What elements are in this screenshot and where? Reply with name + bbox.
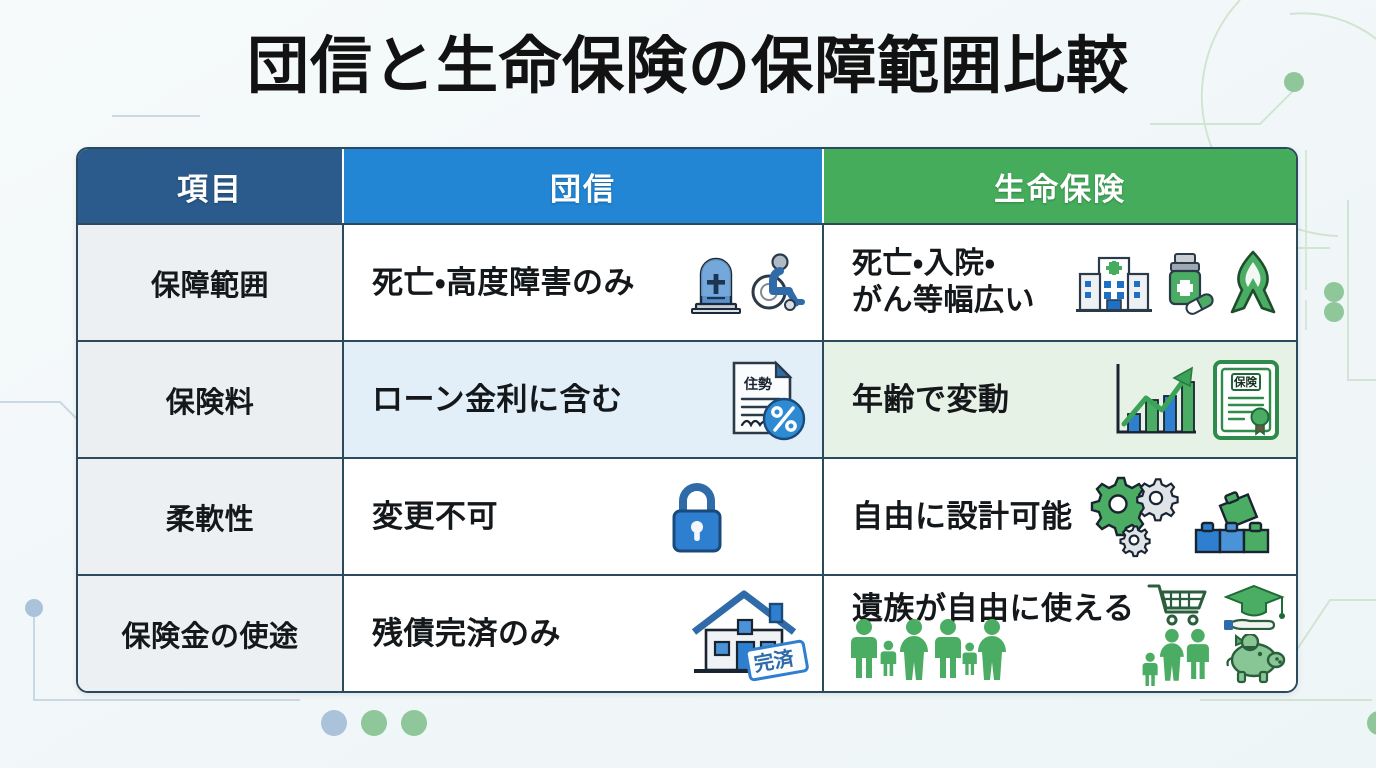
row-label: 保険金の使途 (121, 613, 298, 655)
table-row: 保障範囲 死亡・高度障害のみ (78, 223, 1296, 340)
cell-life: 死亡・入院・ がん等幅広い (824, 225, 1296, 340)
cell-value: 死亡・高度障害のみ (372, 264, 635, 302)
gravestone-icon (690, 252, 742, 314)
table-header-row: 項目 団信 生命保険 (78, 149, 1296, 223)
gears-icon (1090, 474, 1182, 560)
table-row: 保険料 ローン金利に含む 住勢 (78, 340, 1296, 457)
header-cell-item: 項目 (78, 149, 344, 223)
cell-value-line1: 死亡・入院・ (852, 247, 995, 280)
cell-value: 年齢で変動 (852, 381, 1010, 419)
building-blocks-icon (1190, 478, 1274, 556)
cell-danshin: ローン金利に含む 住勢 (344, 342, 824, 457)
row-label-cell: 保険料 (78, 342, 344, 457)
cell-value: ローン金利に含む (372, 381, 622, 419)
header-cell-danshin: 団信 (344, 149, 824, 223)
row-label: 柔軟性 (166, 496, 255, 538)
padlock-icon (666, 478, 728, 556)
hospital-icon (1076, 250, 1152, 316)
cell-life: 自由に設計可能 (824, 459, 1296, 574)
cell-danshin: 残債完済のみ (344, 576, 824, 691)
wheelchair-icon (750, 252, 808, 314)
loan-document-percent-icon: 住勢 (720, 357, 808, 443)
cell-danshin: 変更不可 (344, 459, 824, 574)
icon-group (666, 478, 728, 556)
shopping-cart-icon (1147, 582, 1209, 626)
icon-group (690, 252, 808, 314)
cell-value-multiline: 死亡・入院・ がん等幅広い (852, 246, 1035, 319)
row-label-cell: 保障範囲 (78, 225, 344, 340)
header-label-danshin: 団信 (550, 164, 616, 209)
header-cell-life: 生命保険 (824, 149, 1296, 223)
cell-value: 自由に設計可能 (852, 498, 1073, 536)
icon-group (1076, 248, 1282, 318)
icon-group (1140, 582, 1286, 686)
cell-danshin: 死亡・高度障害のみ (344, 225, 824, 340)
icon-group: 住勢 (720, 357, 808, 443)
table-row: 保険金の使途 残債完済のみ (78, 574, 1296, 691)
family-small-icon (1140, 628, 1216, 686)
piggy-bank-icon (1224, 634, 1286, 684)
awareness-ribbon-icon (1224, 248, 1282, 318)
growth-chart-icon (1110, 358, 1202, 442)
family-group-icon (850, 618, 1022, 685)
row-label-cell: 柔軟性 (78, 459, 344, 574)
house-paid-off-icon: 完済 (682, 584, 814, 684)
cell-value: 変更不可 (372, 498, 498, 536)
cell-value-line2: がん等幅広い (852, 284, 1035, 317)
graduation-cap-hand-icon (1224, 584, 1286, 630)
page-title: 団信と生命保険の保障範囲比較 (0, 34, 1376, 99)
medicine-bottle-icon (1160, 250, 1216, 316)
table-row: 柔軟性 変更不可 自由に設計可能 (78, 457, 1296, 574)
icon-group: 完済 (682, 584, 814, 684)
comparison-table: 項目 団信 生命保険 保障範囲 死亡・高度障害のみ (76, 147, 1298, 693)
icon-group (1090, 474, 1274, 560)
row-label: 保険料 (166, 379, 255, 421)
cell-value: 残債完済のみ (372, 615, 561, 653)
cell-life: 年齢で変動 (824, 342, 1296, 457)
icon-group: 保険 (1110, 357, 1282, 443)
cell-life: 遺族が自由に使える (824, 576, 1296, 691)
row-label: 保障範囲 (151, 262, 269, 304)
insurance-policy-icon: 保険 (1210, 357, 1282, 443)
row-label-cell: 保険金の使途 (78, 576, 344, 691)
header-label-life: 生命保険 (994, 164, 1126, 209)
doc-label-text: 住勢 (743, 376, 772, 393)
policy-label-text: 保険 (1233, 375, 1257, 389)
header-label-item: 項目 (177, 164, 243, 209)
